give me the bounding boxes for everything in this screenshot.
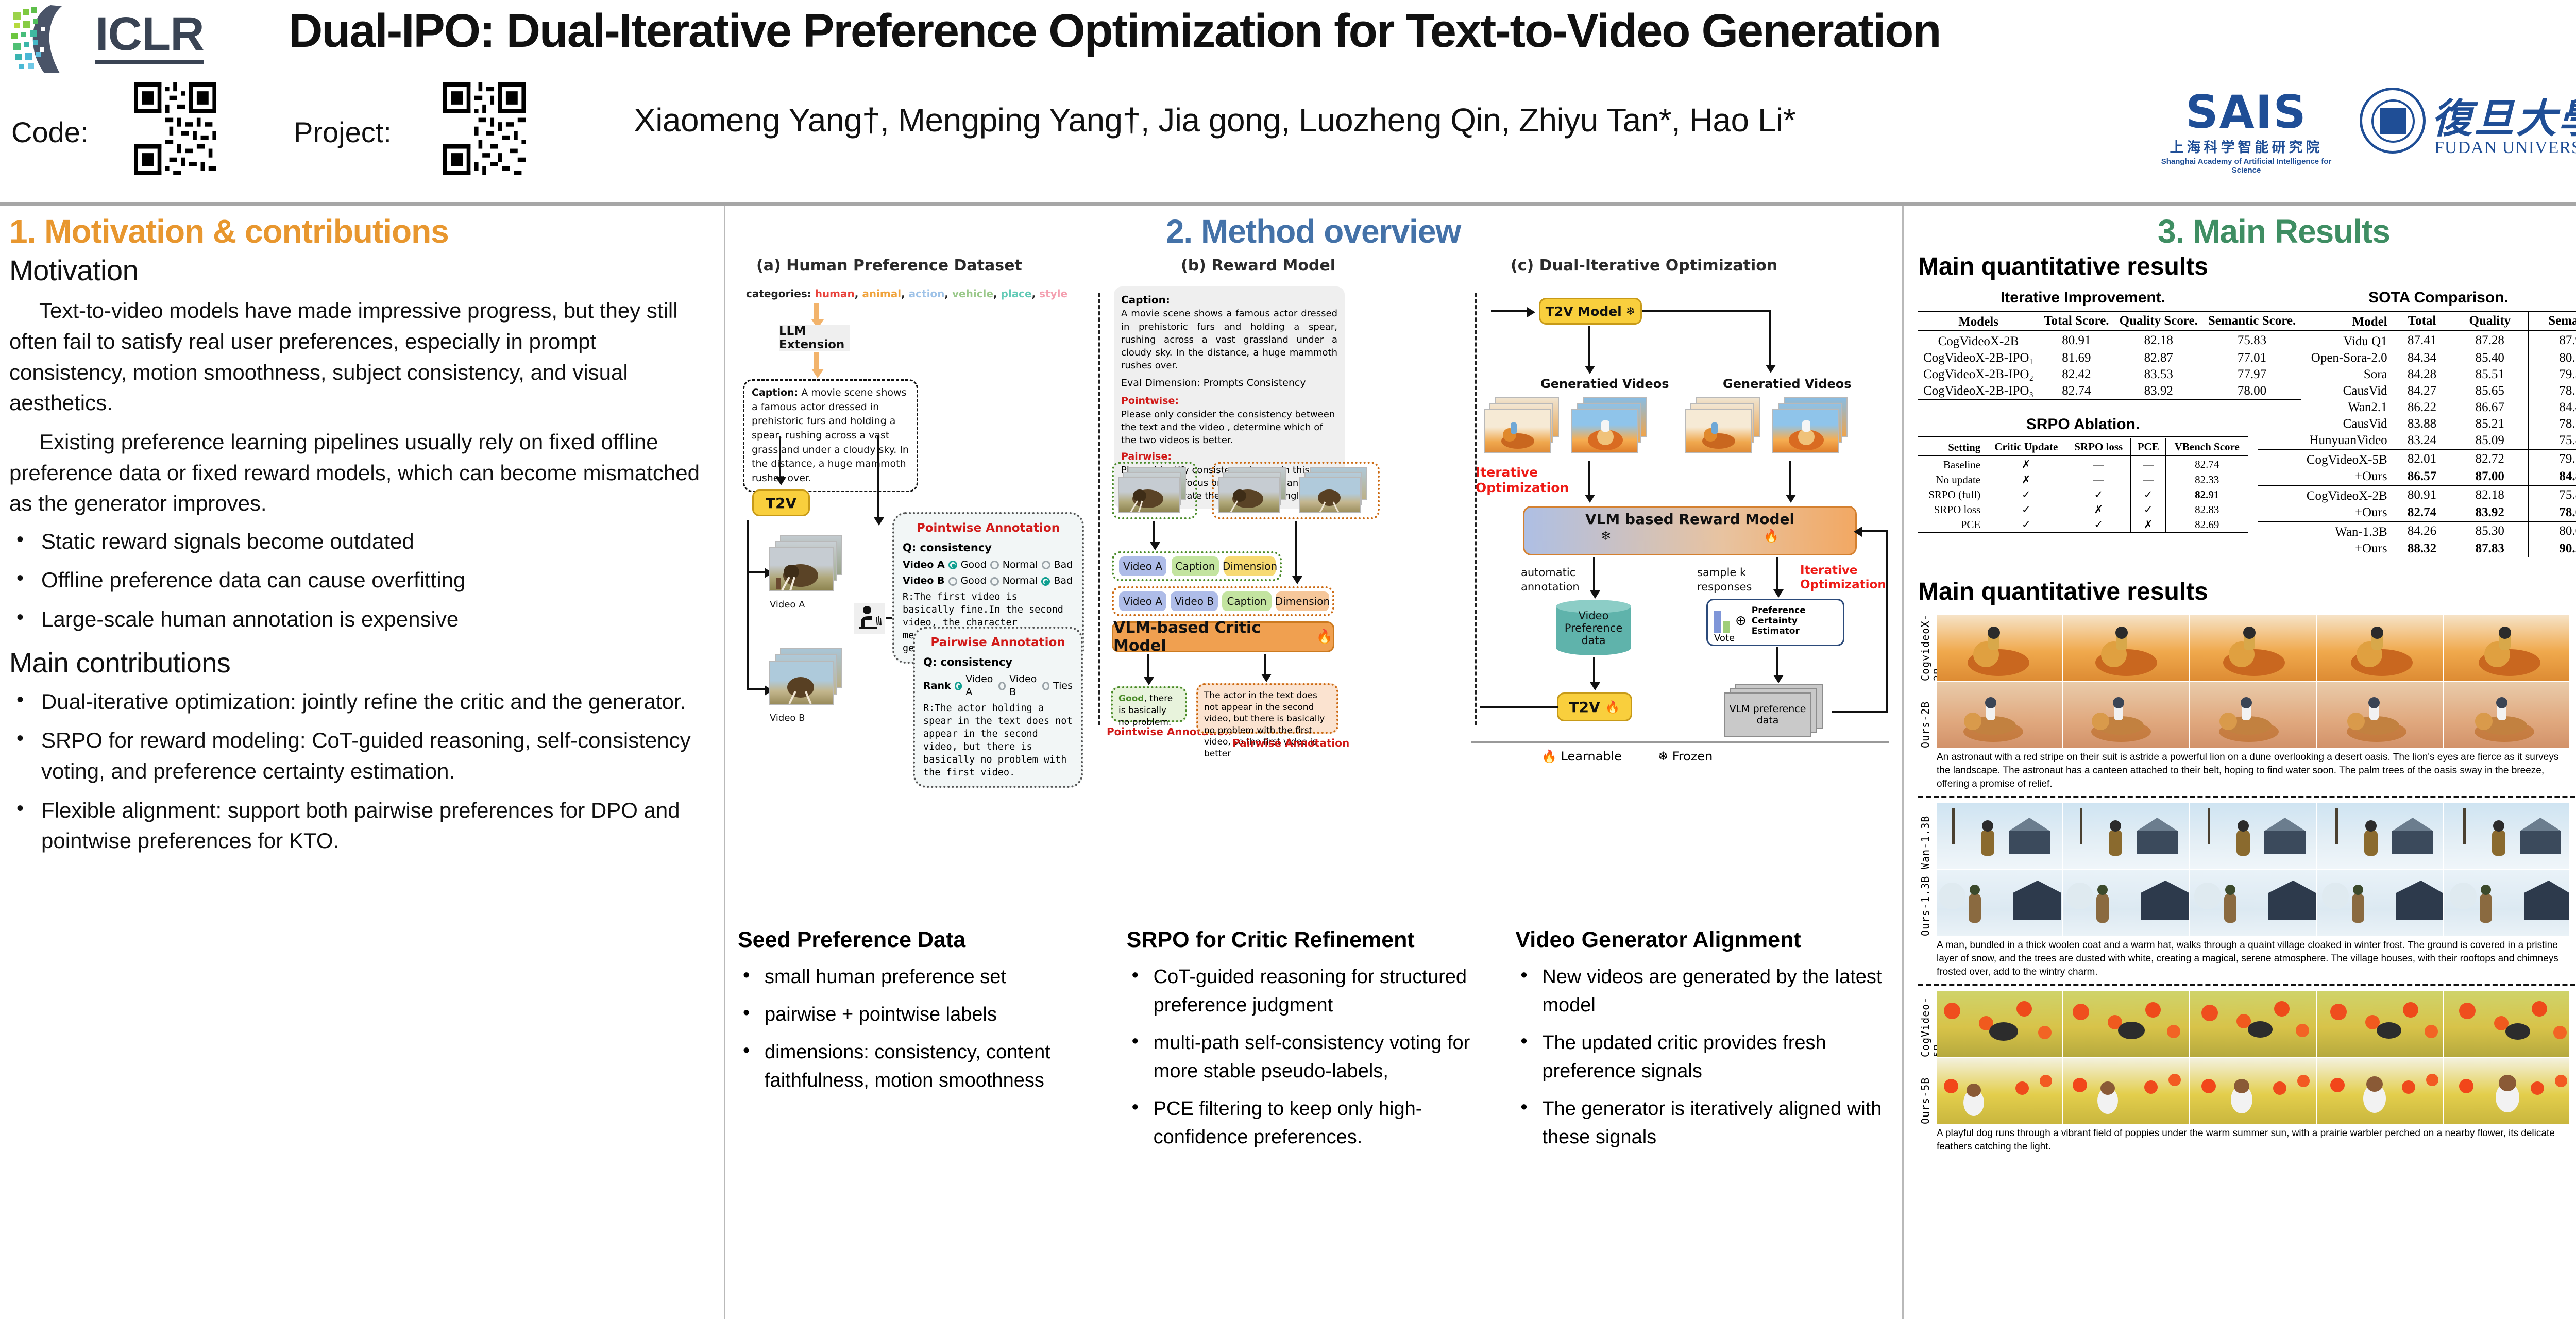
header-divider [0,202,2576,206]
panel-b-pointwise-text: Please only consider the consistency bet… [1121,408,1337,447]
summary-heading: SRPO for Critic Refinement [1127,927,1503,953]
chip-dimension-1: Dimension [1224,556,1276,576]
table-row: Sora84.2885.5179.35 [2258,366,2576,383]
contributions-heading: Main contributions [9,647,704,679]
panel-a-categories: categories: human, animal, action, vehic… [746,288,1067,300]
sais-english-name: Shanghai Academy of Artificial Intellige… [2156,157,2336,175]
table-row: Open-Sora-2.084.3485.4080.12 [2258,350,2576,366]
radio-good-a[interactable] [948,561,957,569]
video-a-frames [769,535,846,595]
qualitative-divider-2 [1918,984,2576,986]
video-b-label: Video B [770,712,805,724]
page-title: Dual-IPO: Dual-Iterative Preference Opti… [289,6,2576,56]
critic-output-pairwise: The actor in the text does not appear in… [1196,683,1338,734]
pairwise-question: Q: consistency [923,655,1073,669]
critic-output-pointwise: GoodGood, there is basically no problem.… [1111,686,1187,722]
sais-chinese-name: 上海科学智能研究院 [2156,136,2336,156]
col-header: Total [2393,311,2451,331]
qual-row-top-label: Wan-1.3B [1919,804,1931,869]
arrow-t2v-model-down [1588,326,1590,368]
sais-wordmark: SAIS [2156,91,2336,134]
table-row: PCE ✓ ✓ ✗ 82.69 [1918,517,2248,533]
radio-bad-a[interactable] [1042,561,1050,569]
qualitative-heading: Main quantitative results [1918,578,2576,606]
col-header: Critic Update [1986,437,2066,455]
col-header: Quality Score. [2114,311,2203,331]
motivation-bullets: Static reward signals become outdated Of… [9,526,704,635]
radio-rank-ties[interactable] [1042,682,1050,690]
flame-icon: 🔥 [1541,749,1557,764]
arrow-to-llm [814,303,819,320]
radio-bad-b[interactable] [1041,577,1050,586]
legend-divider [1471,741,1889,743]
video-frame [2444,991,2569,1057]
project-qr-code[interactable] [443,82,526,175]
vote-label: Vote [1714,633,1735,644]
flame-icon: 🔥 [1764,529,1779,543]
list-item: Flexible alignment: support both pairwis… [9,795,704,856]
vlm-reward-model-box: VLM based Reward Model ❄ 🔥 [1523,506,1857,555]
summary-block-srpo: SRPO for Critic Refinement CoT-guided re… [1127,927,1503,1161]
table-row: HunyuanVideo83.2485.0975.82 [2258,432,2576,449]
panel-a-caption-box: Caption: A movie scene shows a famous ac… [743,379,918,492]
video-frame [2317,991,2443,1057]
panel-divider-a-b [1098,293,1100,725]
qual-frames-top [1937,991,2576,1057]
list-item: dimensions: consistency, content faithfu… [738,1038,1114,1095]
srpo-ablation-table: Setting Critic Update SRPO loss PCE VBen… [1918,436,2248,534]
video-frame [2317,615,2443,681]
table-row: +Ours82.7483.9278.00 [2258,504,2576,521]
qual-row-bottom-label: Ours-2B [1919,683,1931,748]
section-title-method: 2. Method overview [738,213,1889,249]
diagram-legend: 🔥 Learnable ❄ Frozen [1541,749,1713,764]
snowflake-icon: ❄ [1658,749,1668,764]
table-row: CogVideoX-2B 80.91 82.18 75.83 [1918,331,2301,350]
arrow-critic-out-left [1147,654,1149,679]
table-row: CausVid84.2785.6578.75 [2258,383,2576,399]
panel-divider-b-c [1475,293,1477,725]
pointwise-row-video-a[interactable]: Video A Good Normal Bad [903,559,1074,572]
generated-video-set-3 [1685,397,1767,456]
fudan-chinese-name: 復旦大學 [2432,87,2576,144]
qual-frames-bottom [1937,870,2576,936]
sota-comparison-table: Model Total Quality Semantic Vidu Q1 87.… [2258,310,2576,559]
list-item: CoT-guided reasoning for structured pref… [1127,963,1503,1020]
summary-block-seed: Seed Preference Data small human prefere… [738,927,1114,1161]
video-frame [2063,803,2189,869]
table-row: Wan2.186.2286.6784.44 [2258,399,2576,416]
arrow-caption-to-annotation [877,436,879,519]
iterative-table-caption: Iterative Improvement. [1918,289,2248,307]
list-item: PCE filtering to keep only high-confiden… [1127,1095,1503,1152]
panel-a-title: (a) Human Preference Dataset [756,257,1022,275]
sample-k-label: sample k responses [1697,566,1754,594]
arrow-b-pair-down [1295,521,1297,578]
arrow-pref-data-to-t2v [1593,657,1595,684]
arrow-videos-to-reward-right [1789,461,1791,497]
preference-certainty-estimator-box: ⊕ Preference Certainty Estimator Vote [1706,599,1844,646]
panel-b-pointwise-label: Pointwise: [1121,394,1337,408]
qualitative-block-1: CogvideoX-2B [1937,615,2576,790]
qual-frames-top [1937,615,2576,681]
table-row: CogVideoX-5B 82.01 82.72 79.17 [2258,449,2576,468]
summary-heading: Video Generator Alignment [1515,927,1892,953]
chip-video-b-2: Video B [1171,591,1218,611]
video-frame [1937,870,2062,936]
arrow-loop-right-up [1886,530,1888,713]
video-frame [2317,803,2443,869]
arrow-videos-to-reward-left [1588,461,1590,497]
qual-frames-top [1937,803,2576,869]
sota-table-caption: SOTA Comparison. [2258,289,2576,307]
motivation-heading: Motivation [9,253,704,287]
list-item: The generator is iteratively aligned wit… [1515,1095,1892,1152]
qualitative-block-3: CogVideo-5B [1937,991,2576,1153]
table-row: No update ✗ — — 82.33 [1918,472,2248,487]
table-row: CogVideoX-2B-IPO₁ 81.69 82.87 77.01 [1918,350,2301,366]
generated-video-set-1 [1484,397,1566,456]
motivation-paragraph-2: Existing preference learning pipelines u… [9,427,704,519]
list-item: SRPO for reward modeling: CoT-guided rea… [9,725,704,786]
col-header: SRPO loss [2066,437,2131,455]
video-frame [2190,870,2316,936]
automatic-annotation-label: automatic annotation [1521,566,1583,594]
sais-logo: SAIS 上海科学智能研究院 Shanghai Academy of Artif… [2156,91,2336,175]
chip-caption-2: Caption [1222,591,1272,611]
chip-caption-1: Caption [1172,556,1219,576]
pointwise-row-video-b[interactable]: Video B Good Normal Bad [903,574,1074,588]
table-row: Wan-1.3B 84.26 85.30 80.09 [2258,521,2576,540]
col-header: Total Score. [2039,311,2114,331]
video-frame [2063,991,2189,1057]
panel-b-pair-frames-1 [1218,467,1294,514]
panel-b-title: (b) Reward Model [1181,257,1335,275]
radio-normal-b[interactable] [990,577,999,586]
video-frame [2444,682,2569,748]
video-frame [2444,615,2569,681]
table-row: Baseline ✗ — — 82.74 [1918,455,2248,472]
fudan-english-name: FUDAN UNIVERSITY [2434,138,2576,158]
panel-b-caption-text: A movie scene shows a famous actor dress… [1121,307,1337,372]
video-preference-data-cylinder: Video Preference data [1556,601,1631,655]
vlm-reward-model-label: VLM based Reward Model [1524,508,1855,528]
column-results: 3. Main Results Main quantitative result… [1902,206,2576,1319]
arrow-b-single-down [1153,521,1155,544]
qual-caption-2: A man, bundled in a thick woolen coat an… [1937,939,2570,978]
list-item: Offline preference data can cause overfi… [9,565,704,596]
arrow-critic-out-right [1264,654,1266,676]
pairwise-output-text: The actor in the text does not appear in… [1198,685,1336,764]
section-title-results: 3. Main Results [1918,213,2576,249]
plus-circle-icon: ⊕ [1735,613,1747,629]
radio-normal-a[interactable] [990,561,999,569]
quantitative-heading: Main quantitative results [1918,252,2576,281]
table-row: CogVideoX-2B 80.91 82.18 75.83 [2258,485,2576,504]
table-row: +Ours86.5787.0084.84 [2258,468,2576,485]
venue-name: ICLR [95,10,204,64]
flame-icon: 🔥 [1605,700,1620,714]
list-item: Large-scale human annotation is expensiv… [9,604,704,635]
table-row: CogVideoX-2B-IPO₃ 82.74 83.92 78.00 [1918,383,2301,400]
table-row: +Ours88.3287.8390.25 [2258,540,2576,558]
project-label: Project: [294,115,392,149]
generated-videos-label-left: Generatied Videos [1540,376,1669,392]
arrow-reward-to-pref-data [1593,557,1595,593]
method-overview-diagram: (a) Human Preference Dataset categories:… [738,257,1892,777]
pairwise-reason: R:The actor holding a spear in the text … [923,702,1073,780]
col-header: Models [1918,311,2039,331]
iclr-logo-icon [10,4,93,74]
video-frame [2190,615,2316,681]
qual-caption-1: An astronaut with a red stripe on their … [1937,751,2570,790]
vote-bars-icon [1714,609,1730,633]
contribution-bullets: Dual-iterative optimization: jointly ref… [9,686,704,856]
panel-b-eval-dimension: Eval Dimension: Prompts Consistency [1121,376,1337,390]
video-frame [2190,1058,2316,1124]
ablation-table-caption: SRPO Ablation. [1918,416,2248,433]
pairwise-output-label: Pairwise Annotation [1232,737,1349,749]
col-header: PCE [2131,437,2166,455]
fudan-seal-icon [2360,88,2426,154]
vlm-preference-data-label: VLM preference data [1724,692,1811,737]
pairwise-annotation-title: Pairwise Annotation [923,635,1073,651]
panel-b-video-a-frames [1118,467,1194,514]
video-frame [1937,803,2062,869]
panel-b-caption-label: Caption: [1121,293,1337,307]
list-item: Dual-iterative optimization: jointly ref… [9,686,704,717]
col-header: Semantic [2529,311,2576,331]
table-row: CausVid83.8885.2178.57 [2258,416,2576,432]
video-frame [2317,1058,2443,1124]
arrow-t2v-right-down [1769,310,1771,367]
col-header: Setting [1918,437,1986,455]
arrow-to-video-b [747,688,767,690]
table-row: SRPO (full) ✓ ✓ ✓ 82.91 [1918,487,2248,502]
arrow-into-t2v-model [1491,310,1529,312]
poster-root: ICLR Dual-IPO: Dual-Iterative Preference… [0,0,2576,1319]
qual-row-bottom-label: Ours-5B [1919,1059,1931,1124]
video-frame [2190,682,2316,748]
arrow-to-video-a [747,571,767,573]
list-item: pairwise + pointwise labels [738,1001,1114,1029]
video-frame [2063,615,2189,681]
t2v-learnable-box: T2V 🔥 [1557,692,1632,721]
column-motivation: 1. Motivation & contributions Motivation… [0,206,721,1319]
arrow-vlm-pref-loop-out [1832,711,1888,713]
chip-video-a-1: Video A [1119,556,1166,576]
flame-icon: 🔥 [1316,629,1333,645]
llm-extension-box: LLM Extension [779,325,850,351]
t2v-box-panel-a: T2V [752,489,810,516]
video-frame [2444,870,2569,936]
iterative-improvement-table: Models Total Score. Quality Score. Seman… [1918,310,2301,401]
arrow-reward-to-vote [1776,557,1778,591]
video-frame [2063,870,2189,936]
panel-b-pair-frames-2 [1299,467,1376,514]
video-frame [2317,870,2443,936]
qual-frames-bottom [1937,1058,2576,1124]
qual-caption-3: A playful dog runs through a vibrant fie… [1937,1127,2570,1153]
iterative-optimization-label-right: Iterative Optimization [1800,564,1867,592]
generated-videos-label-right: Generatied Videos [1723,376,1852,392]
video-frame [2317,682,2443,748]
chip-video-a-2: Video A [1119,591,1166,611]
qual-row-bottom-label: Ours-1.3B [1919,871,1931,936]
code-label: Code: [11,115,88,149]
pairwise-annotation-box: Pairwise Annotation Q: consistency Rank … [913,627,1083,787]
panel-c-title: (c) Dual-Iterative Optimization [1511,257,1777,275]
summary-block-alignment: Video Generator Alignment New videos are… [1515,927,1892,1161]
code-qr-code[interactable] [134,82,216,175]
summary-heading: Seed Preference Data [738,927,1114,953]
list-item: small human preference set [738,963,1114,991]
arrow-caption-to-t2v [779,436,781,479]
video-frame [1937,1058,2062,1124]
snowflake-icon: ❄ [1601,529,1611,543]
video-frame [2063,1058,2189,1124]
video-frame [1937,991,2062,1057]
col-header: Quality [2451,311,2529,331]
list-item: New videos are generated by the latest m… [1515,963,1892,1020]
pairwise-rank-row[interactable]: Rank Video A Video B Ties [923,673,1073,699]
t2v-model-box: T2V Model ❄ [1539,298,1642,325]
video-frame [1937,615,2062,681]
arrow-llm-to-caption [814,352,819,371]
qualitative-block-2: Wan-1.3B [1937,803,2576,978]
list-item: Static reward signals become outdated [9,526,704,557]
qualitative-divider-1 [1918,796,2576,798]
arrow-t2v-down [747,520,749,690]
qual-frames-bottom [1937,682,2576,748]
radio-good-b[interactable] [948,577,957,586]
table-row: SRPO loss ✓ ✗ ✓ 82.83 [1918,502,2248,517]
table-row: CogVideoX-2B-IPO₂ 82.42 83.53 77.97 [1918,366,2301,383]
video-frame [1937,682,2062,748]
list-item: multi-path self-consistency voting for m… [1127,1029,1503,1086]
pce-label: Preference Certainty Estimator [1752,605,1802,636]
list-item: The updated critic provides fresh prefer… [1515,1029,1892,1086]
method-summary-blocks: Seed Preference Data small human prefere… [738,927,1892,1161]
chip-dimension-2: Dimension [1276,591,1329,611]
video-frame [2063,682,2189,748]
human-annotator-icon [854,603,885,634]
column-method: 2. Method overview (a) Human Preference … [724,206,1901,1319]
video-frame [2444,1058,2569,1124]
snowflake-icon: ❄ [1626,305,1635,318]
generated-video-set-2 [1571,397,1654,456]
video-b-frames [769,648,846,708]
pointwise-question: Q: consistency [903,540,1074,555]
iterative-optimization-label-left: Iterative Optimization [1476,465,1537,496]
vlm-preference-data-docs: VLM preference data [1724,684,1832,738]
arrow-t2v-model-right [1642,310,1771,312]
vlm-critic-model-box: VLM-based Critic Model 🔥 [1112,621,1334,652]
table-row: Vidu Q1 87.41 87.28 87.94 [2258,331,2576,350]
arrow-vote-to-vlm-pref [1776,647,1778,677]
arrow-t2v-loop-out [1480,706,1558,708]
pointwise-annotation-title: Pointwise Annotation [903,520,1074,536]
col-header: VBench Score [2166,437,2248,455]
generated-video-set-4 [1772,397,1855,456]
radio-rank-video-a[interactable] [955,682,962,690]
col-header: Model [2258,311,2393,331]
author-list: Xiaomeng Yang†, Mengping Yang†, Jia gong… [634,101,1795,139]
video-a-label: Video A [770,599,805,611]
poster-header: ICLR Dual-IPO: Dual-Iterative Preference… [0,0,2576,205]
video-frame [2190,991,2316,1057]
radio-rank-video-b[interactable] [998,682,1006,690]
fudan-logo: 復旦大學 FUDAN UNIVERSITY [2360,87,2576,164]
motivation-paragraph-1: Text-to-video models have made impressiv… [9,295,704,418]
video-frame [2444,803,2569,869]
section-title-motivation: 1. Motivation & contributions [9,213,704,249]
video-frame [2190,803,2316,869]
